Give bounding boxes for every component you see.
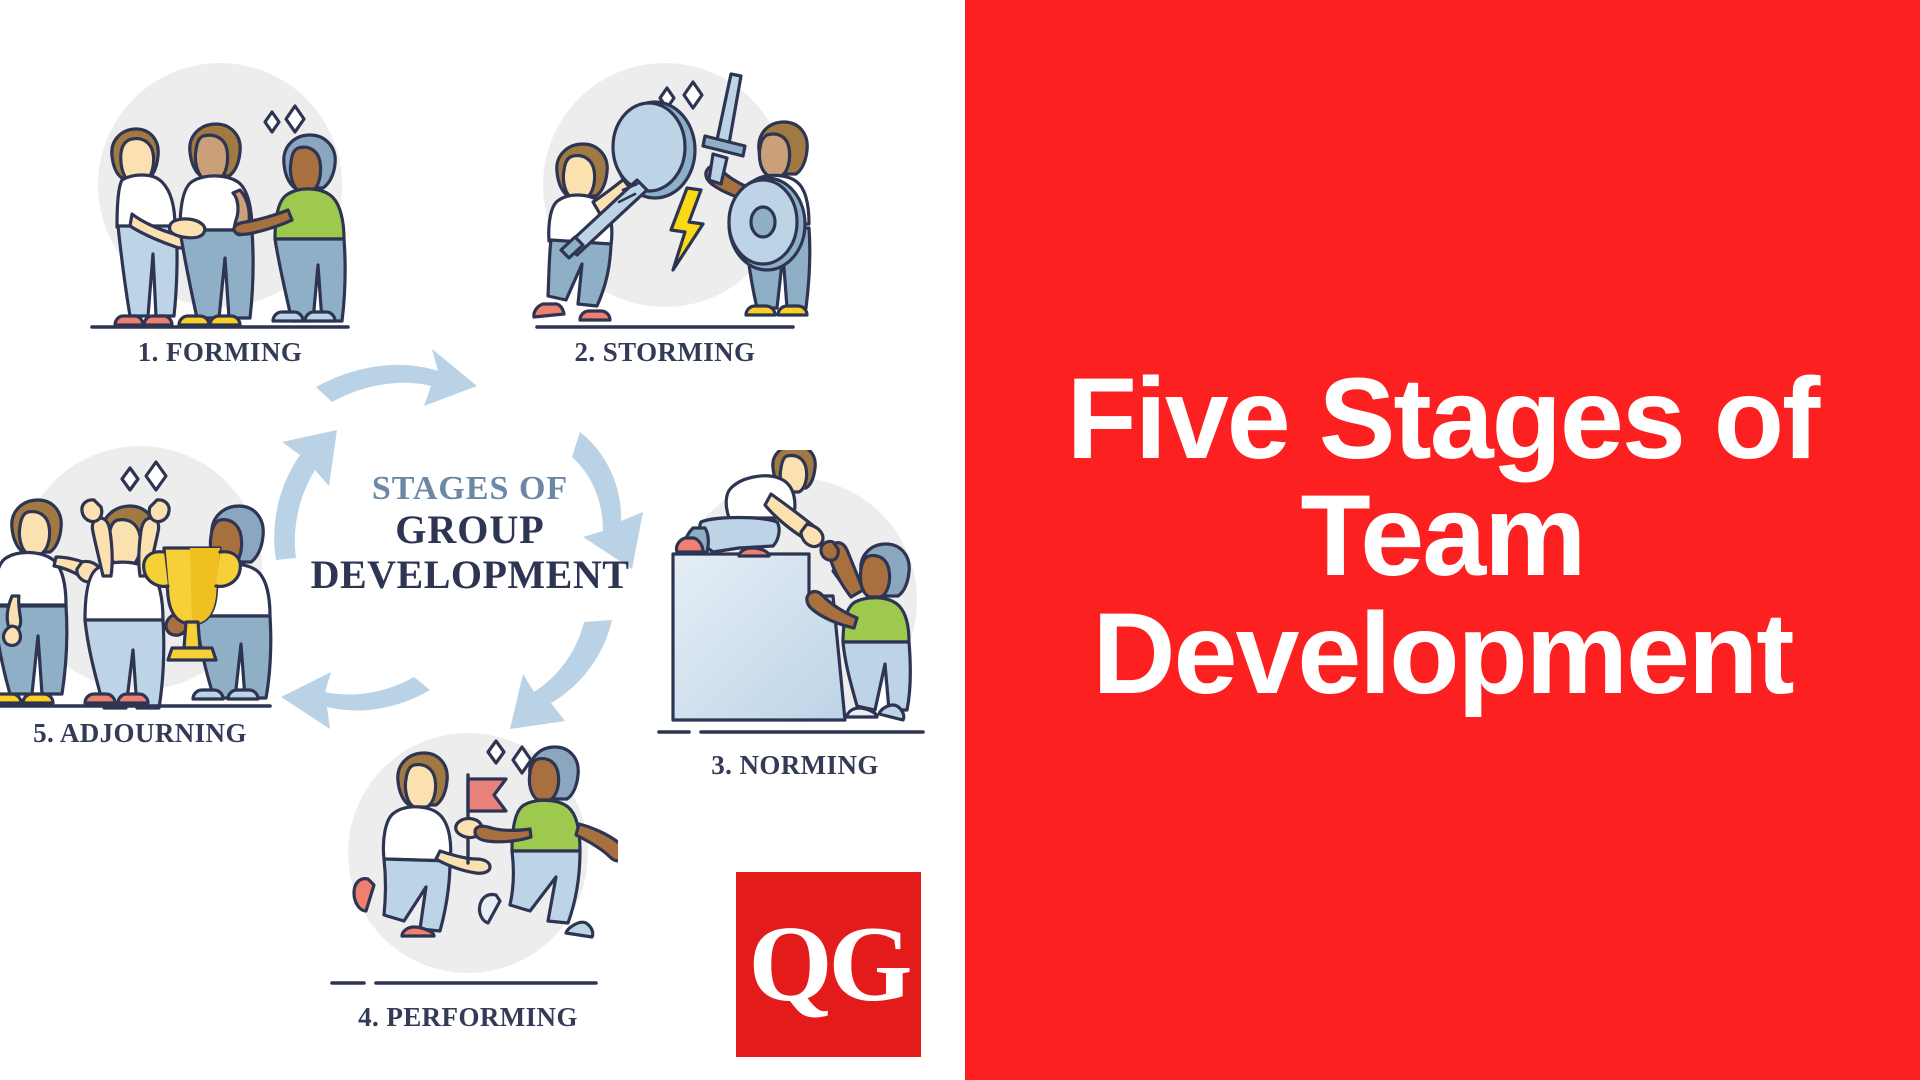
- arrow-norming-to-performing: [510, 620, 612, 729]
- stage-caption-performing: 4. PERFORMING: [358, 1002, 578, 1033]
- stage-node-adjourning[interactable]: 5. ADJOURNING: [0, 418, 290, 748]
- qg-logo-text: QG: [748, 911, 908, 1019]
- stage-node-performing[interactable]: 4. PERFORMING: [318, 715, 618, 1045]
- performing-illustration: [318, 715, 618, 995]
- diagram-center-label: STAGES OF GROUP DEVELOPMENT: [300, 470, 640, 598]
- norming-illustration: [645, 450, 945, 750]
- storming-illustration: [515, 40, 815, 330]
- stage-caption-norming: 3. NORMING: [711, 750, 879, 781]
- infographic-canvas: STAGES OF GROUP DEVELOPMENT: [0, 0, 1920, 1080]
- stage-node-storming[interactable]: 2. STORMING: [515, 40, 815, 370]
- adjourning-illustration: [0, 418, 290, 718]
- stage-node-forming[interactable]: 1. FORMING: [70, 40, 370, 370]
- forming-illustration: [70, 40, 370, 330]
- qg-logo[interactable]: QG: [736, 872, 921, 1057]
- cycle-diagram: STAGES OF GROUP DEVELOPMENT: [0, 0, 965, 1080]
- center-label-line1: STAGES OF: [300, 470, 640, 508]
- page-title-line1: Five Stages of: [1013, 361, 1873, 478]
- stage-caption-storming: 2. STORMING: [575, 337, 756, 368]
- center-label-line3: DEVELOPMENT: [300, 553, 640, 598]
- stage-caption-adjourning: 5. ADJOURNING: [33, 718, 247, 749]
- page-title: Five Stages of Team Development: [1013, 361, 1873, 719]
- page-title-line2: Team: [1013, 478, 1873, 595]
- center-label-line2: GROUP: [300, 508, 640, 553]
- stage-node-norming[interactable]: 3. NORMING: [645, 450, 945, 780]
- stage-caption-forming: 1. FORMING: [138, 337, 302, 368]
- title-panel: Five Stages of Team Development: [965, 0, 1920, 1080]
- page-title-line3: Development: [1013, 596, 1873, 713]
